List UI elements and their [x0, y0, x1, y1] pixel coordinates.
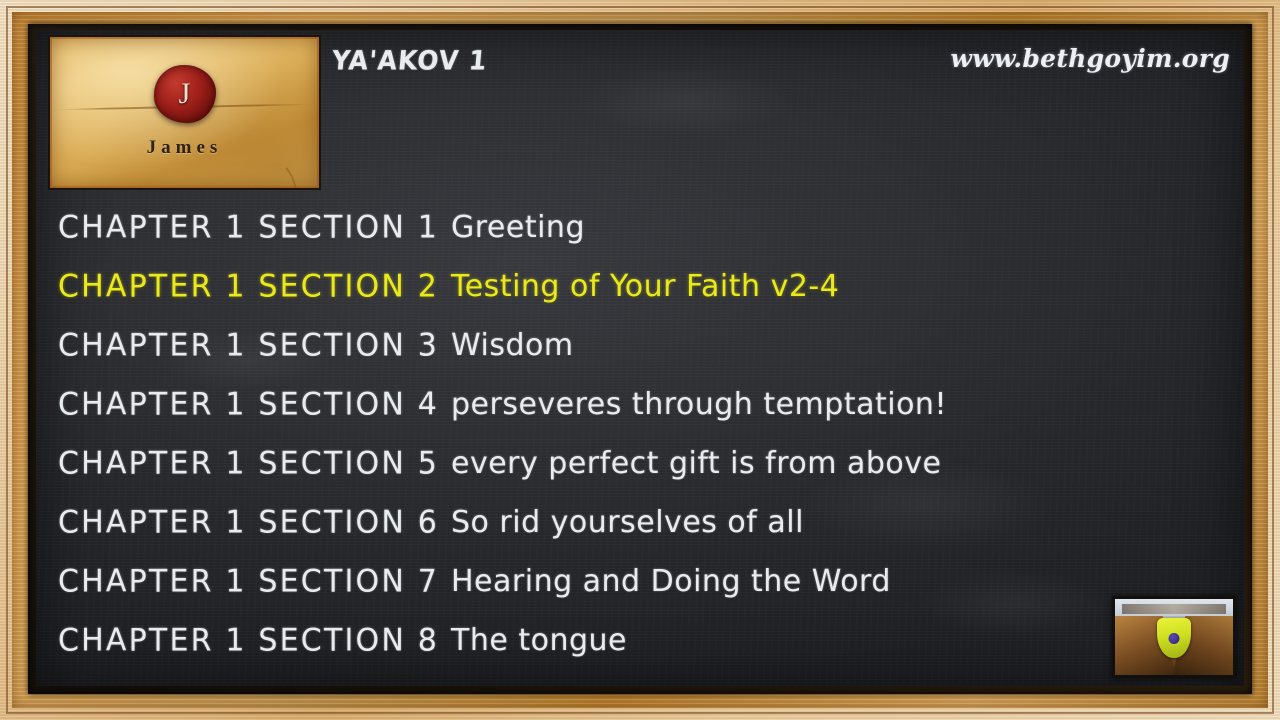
section-line[interactable]: CHAPTER 1 SECTION 2Testing of Your Faith… [58, 257, 1228, 316]
section-line-title: Greeting [451, 210, 585, 245]
section-line[interactable]: CHAPTER 1 SECTION 7Hearing and Doing the… [58, 552, 1228, 611]
section-line-head: CHAPTER 1 SECTION 1 [58, 197, 439, 259]
section-line-head: CHAPTER 1 SECTION 4 [58, 374, 439, 436]
section-line-title: The tongue [451, 623, 627, 658]
section-line-title: So rid yourselves of all [451, 505, 804, 540]
section-line-head: CHAPTER 1 SECTION 5 [58, 433, 439, 495]
section-line-head: CHAPTER 1 SECTION 8 [58, 610, 439, 672]
screenshot-root: J James YA'AKOV 1 www.bethgoyim.org CHAP… [0, 0, 1280, 720]
wax-seal-letter: J [179, 79, 191, 109]
book-name-label: James [50, 137, 319, 159]
section-line[interactable]: CHAPTER 1 SECTION 5every perfect gift is… [58, 434, 1228, 493]
section-line-title: Wisdom [451, 328, 574, 363]
section-line-title: every perfect gift is from above [451, 446, 942, 481]
book-cover-card[interactable]: J James [48, 35, 321, 190]
chalk-smudge [576, 66, 796, 136]
page-title: YA'AKOV 1 [331, 45, 489, 76]
section-line-head: CHAPTER 1 SECTION 7 [58, 551, 439, 613]
section-line-head: CHAPTER 1 SECTION 2 [58, 256, 439, 318]
section-line-title: perseveres through temptation! [451, 387, 947, 422]
section-line-head: CHAPTER 1 SECTION 6 [58, 492, 439, 554]
badge-banner [1122, 604, 1226, 615]
section-line[interactable]: CHAPTER 1 SECTION 1Greeting [58, 198, 1228, 257]
wax-seal-icon: J [154, 65, 216, 123]
section-line[interactable]: CHAPTER 1 SECTION 8The tongue [58, 611, 1228, 670]
site-watermark: www.bethgoyim.org [950, 44, 1230, 73]
section-line-title: Hearing and Doing the Word [451, 564, 891, 599]
organization-badge-icon[interactable] [1112, 596, 1236, 678]
chalkboard: J James YA'AKOV 1 www.bethgoyim.org CHAP… [36, 30, 1244, 686]
section-line[interactable]: CHAPTER 1 SECTION 4perseveres through te… [58, 375, 1228, 434]
section-list: CHAPTER 1 SECTION 1GreetingCHAPTER 1 SEC… [58, 198, 1228, 670]
section-line-title: Testing of Your Faith v2-4 [451, 269, 839, 304]
section-line-head: CHAPTER 1 SECTION 3 [58, 315, 439, 377]
section-line[interactable]: CHAPTER 1 SECTION 3Wisdom [58, 316, 1228, 375]
section-line[interactable]: CHAPTER 1 SECTION 6So rid yourselves of … [58, 493, 1228, 552]
